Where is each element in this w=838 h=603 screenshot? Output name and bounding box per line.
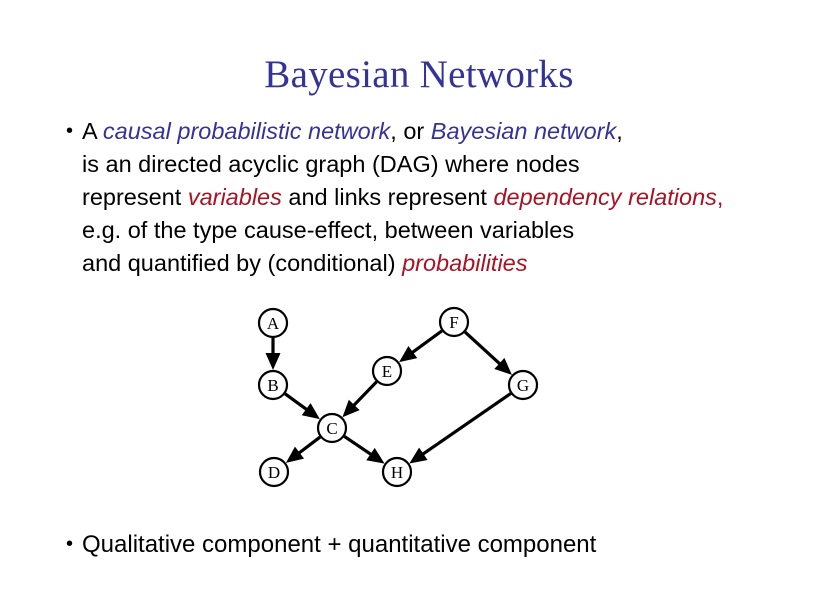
dag-arrowhead-g-to-h-icon xyxy=(409,448,427,464)
line3-segment-a: represent xyxy=(82,184,188,210)
line1-segment-a: A xyxy=(82,118,103,144)
body-line-2: is an directed acyclic graph (DAG) where… xyxy=(64,148,838,181)
body-line-3: represent variables and links represent … xyxy=(64,181,838,214)
body-line-5: and quantified by (conditional) probabil… xyxy=(64,247,838,280)
dag-arrowhead-c-to-h-icon xyxy=(366,448,384,464)
dag-arrowhead-c-to-d-icon xyxy=(286,447,304,463)
line1-segment-c: , or xyxy=(390,118,430,144)
bullet-marker-icon: • xyxy=(66,115,73,148)
dag-edge-g-to-h xyxy=(422,394,511,455)
dag-node-label-b: B xyxy=(267,376,278,395)
dag-edge-e-to-c xyxy=(353,382,377,407)
dag-node-label-e: E xyxy=(382,362,392,381)
line2-segment-a: is an directed acyclic graph (DAG) where… xyxy=(82,151,580,177)
bottom-bullet-text: Qualitative component + quantitative com… xyxy=(82,531,596,558)
term-bayesian-network: Bayesian network xyxy=(431,118,617,144)
term-probabilities: probabilities xyxy=(402,250,527,276)
dag-edge-f-to-g xyxy=(465,332,501,365)
line4-segment-a: e.g. of the type cause-effect, between v… xyxy=(82,217,574,243)
slide-canvas: Bayesian Networks •A causal probabilisti… xyxy=(0,0,838,603)
main-bullet-block: •A causal probabilistic network, or Baye… xyxy=(64,115,838,280)
dag-node-label-d: D xyxy=(268,463,280,482)
dag-arrowhead-a-to-b-icon xyxy=(266,353,281,370)
line5-segment-a: and quantified by (conditional) xyxy=(82,250,402,276)
dag-node-label-g: G xyxy=(517,376,529,395)
dag-edge-c-to-d xyxy=(298,437,320,454)
dag-svg-canvas: ABCDEFGH xyxy=(240,296,570,510)
line3-segment-e: , xyxy=(717,184,724,210)
term-variables: variables xyxy=(188,184,282,210)
dag-edge-b-to-c xyxy=(285,394,308,410)
dag-node-label-a: A xyxy=(267,314,280,333)
dag-edge-f-to-e xyxy=(411,331,442,353)
page-title: Bayesian Networks xyxy=(0,52,838,98)
body-line-1: •A causal probabilistic network, or Baye… xyxy=(64,115,838,148)
dag-arrowhead-f-to-e-icon xyxy=(399,346,417,362)
bottom-bullet-line: •Qualitative component + quantitative co… xyxy=(64,528,838,561)
line1-segment-e: , xyxy=(616,118,623,144)
term-dependency-relations: dependency relations xyxy=(493,184,716,210)
line3-segment-c: and links represent xyxy=(282,184,494,210)
dag-node-label-h: H xyxy=(391,463,403,482)
body-line-4: e.g. of the type cause-effect, between v… xyxy=(64,214,838,247)
term-causal-probabilistic-network: causal probabilistic network xyxy=(103,118,390,144)
dag-edge-c-to-h xyxy=(344,436,372,455)
bottom-bullet-block: •Qualitative component + quantitative co… xyxy=(64,528,838,561)
dag-node-label-c: C xyxy=(326,419,337,438)
dag-node-label-f: F xyxy=(449,313,458,332)
dag-edge-group xyxy=(266,331,512,464)
dag-diagram: ABCDEFGH xyxy=(240,296,570,510)
bullet-marker-icon: • xyxy=(66,528,73,561)
dag-arrowhead-b-to-c-icon xyxy=(302,403,320,419)
